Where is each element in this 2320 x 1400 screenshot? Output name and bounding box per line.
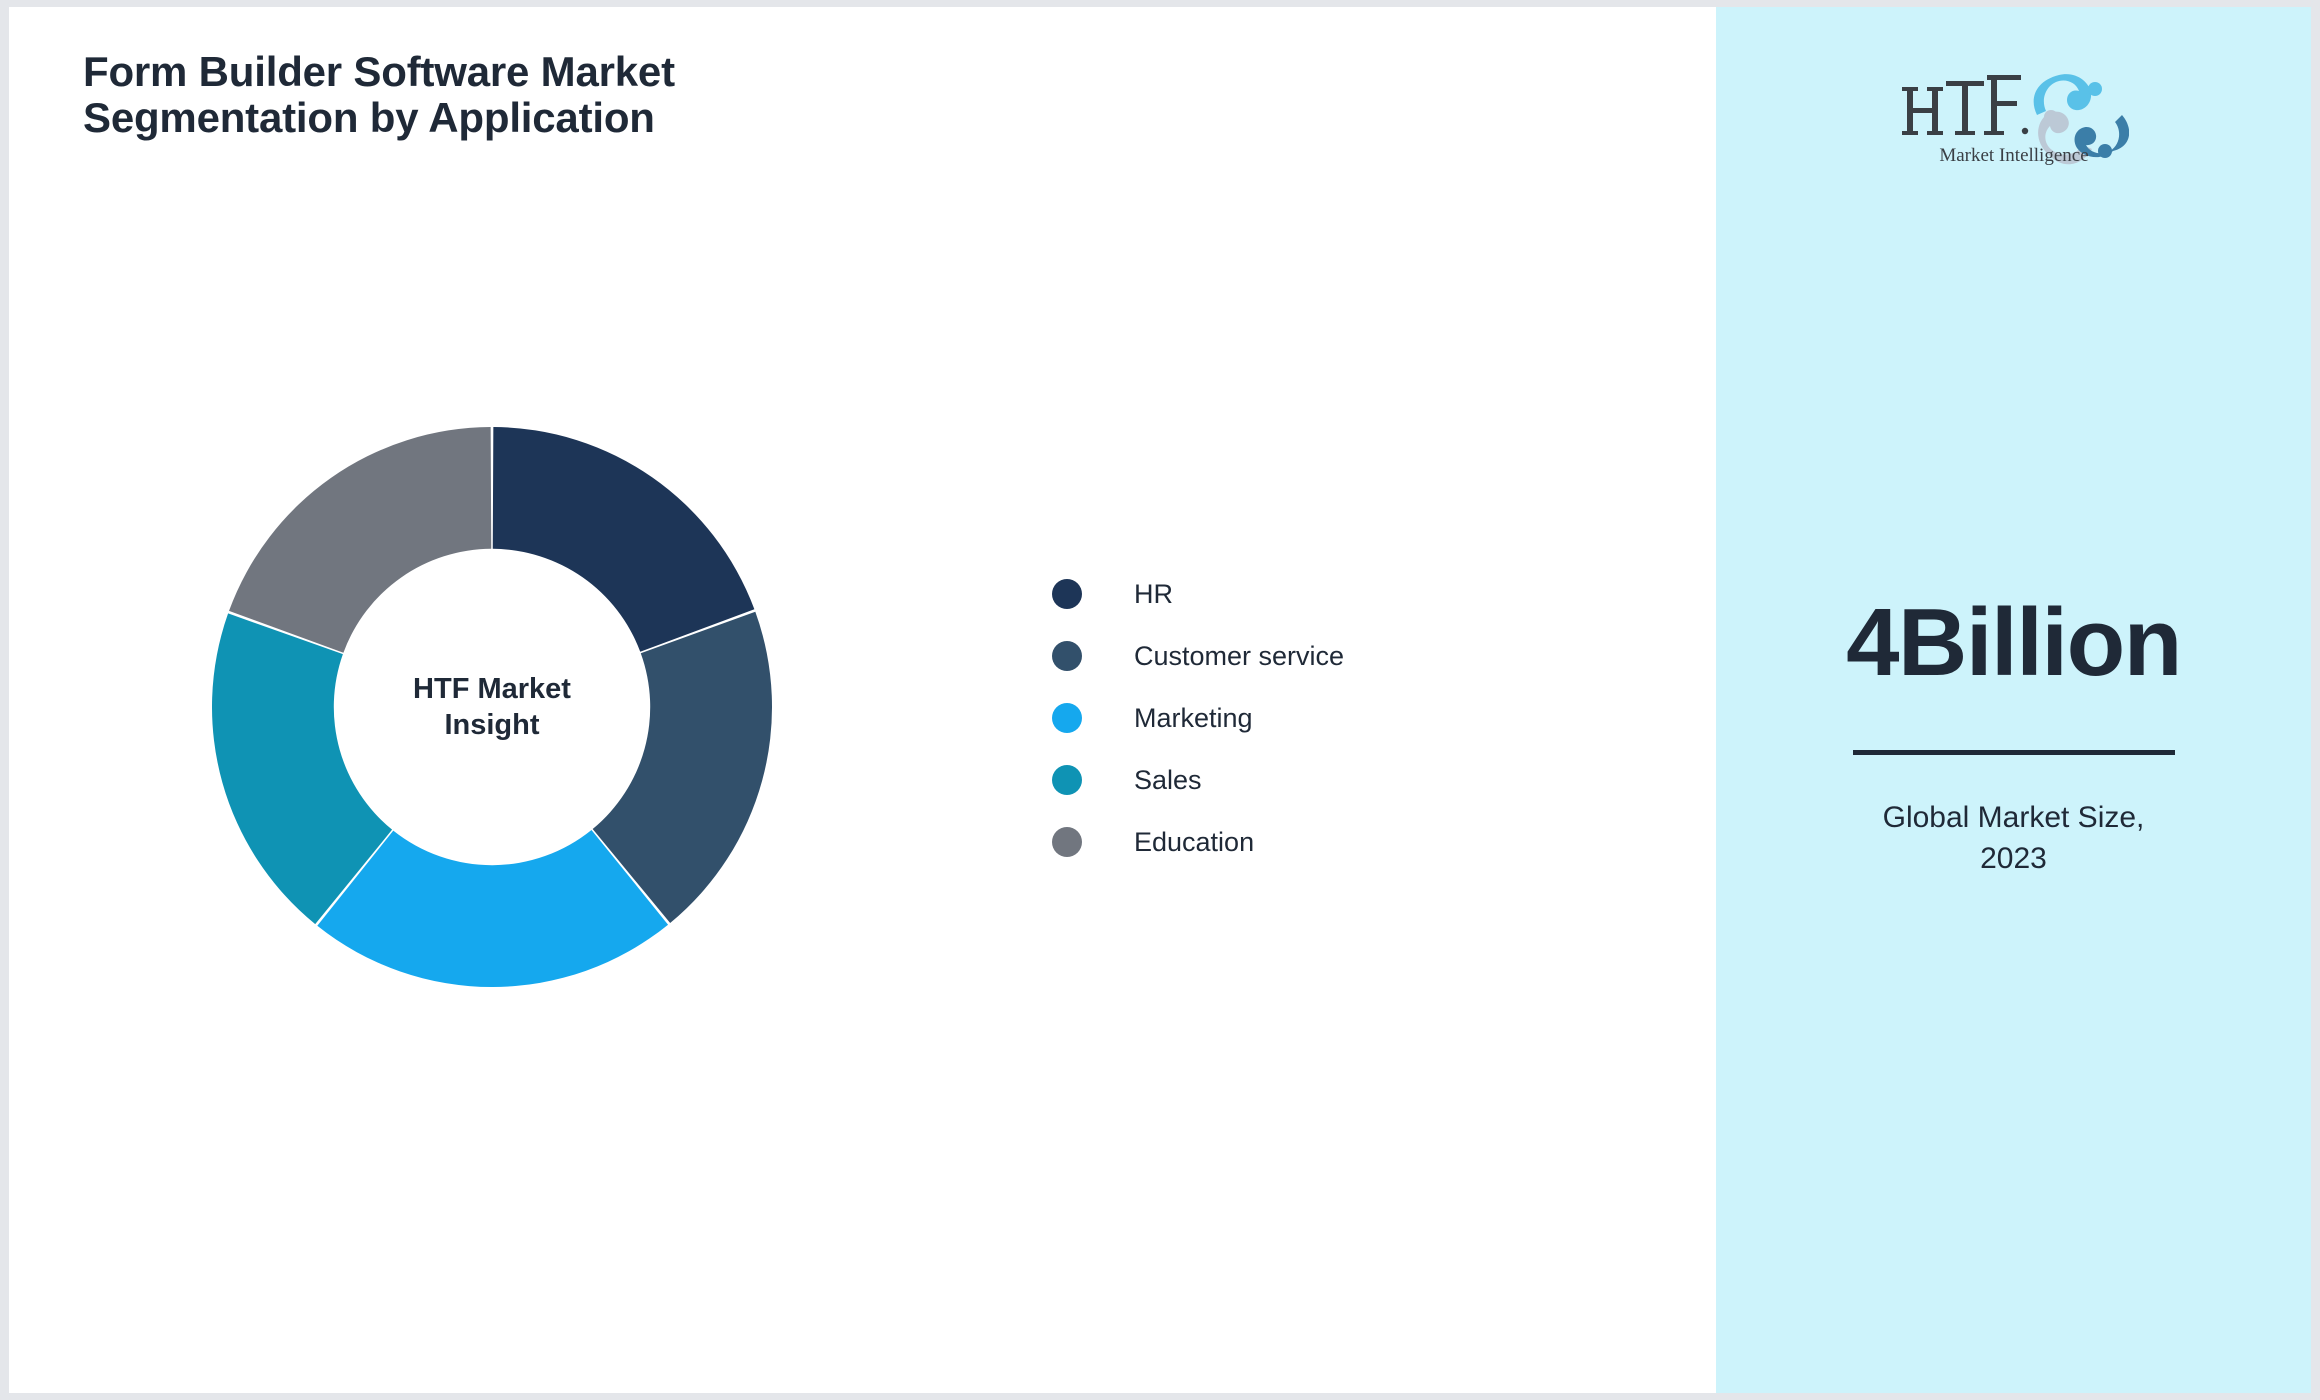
legend-label: HR bbox=[1134, 579, 1173, 610]
legend-label: Education bbox=[1134, 827, 1254, 858]
legend-swatch-icon bbox=[1052, 703, 1082, 733]
legend-label: Marketing bbox=[1134, 703, 1253, 734]
donut-slice-hr[interactable] bbox=[493, 427, 755, 652]
stat-divider bbox=[1853, 750, 2175, 755]
htf-logo-tagline: Market Intelligence bbox=[1939, 145, 2088, 166]
main-panel: Form Builder Software Market Segmentatio… bbox=[9, 7, 1716, 1393]
legend-item[interactable]: Education bbox=[1052, 811, 1344, 873]
htf-wordmark-icon bbox=[1902, 75, 2028, 135]
donut-chart: HTF Market Insight bbox=[212, 427, 772, 987]
stat-caption: Global Market Size, 2023 bbox=[1716, 798, 2311, 879]
legend-item[interactable]: Marketing bbox=[1052, 687, 1344, 749]
chart-legend: HRCustomer serviceMarketingSalesEducatio… bbox=[1052, 563, 1344, 873]
htf-logo: Market Intelligence bbox=[1899, 59, 2129, 169]
htf-logo-svg: Market Intelligence bbox=[1899, 59, 2129, 169]
stat-value: 4Billion bbox=[1716, 595, 2311, 691]
page-title: Form Builder Software Market Segmentatio… bbox=[83, 49, 1063, 141]
legend-item[interactable]: Customer service bbox=[1052, 625, 1344, 687]
legend-swatch-icon bbox=[1052, 579, 1082, 609]
legend-swatch-icon bbox=[1052, 641, 1082, 671]
legend-item[interactable]: Sales bbox=[1052, 749, 1344, 811]
donut-slice-education[interactable] bbox=[229, 427, 491, 653]
infographic-card: Form Builder Software Market Segmentatio… bbox=[9, 7, 2311, 1393]
legend-swatch-icon bbox=[1052, 827, 1082, 857]
legend-label: Customer service bbox=[1134, 641, 1344, 672]
legend-item[interactable]: HR bbox=[1052, 563, 1344, 625]
legend-label: Sales bbox=[1134, 765, 1202, 796]
side-panel: Market Intelligence 4Billion Global Mark… bbox=[1716, 7, 2311, 1393]
legend-swatch-icon bbox=[1052, 765, 1082, 795]
donut-chart-svg bbox=[212, 427, 772, 987]
stat-block: 4Billion Global Market Size, 2023 bbox=[1716, 595, 2311, 879]
